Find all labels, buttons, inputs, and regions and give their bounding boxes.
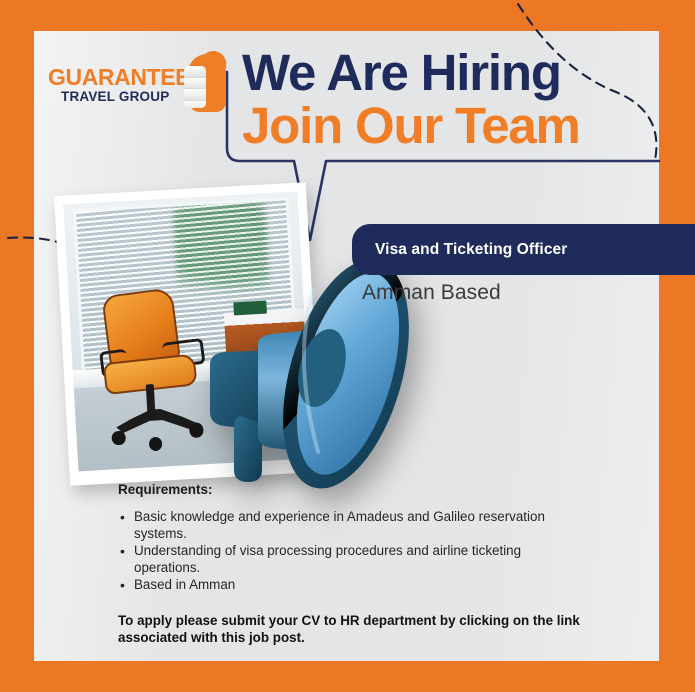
job-location: Amman Based [362,281,501,305]
requirements-heading: Requirements: [118,482,213,497]
logo-company-name: GUARANTEE [48,64,190,91]
list-item: Basic knowledge and experience in Amadeu… [118,509,588,542]
apply-instructions: To apply please submit your CV to HR dep… [118,612,588,646]
list-item: Based in Amman [118,577,588,594]
headline-line-2: Join Our Team [242,99,662,152]
requirements-list: Basic knowledge and experience in Amadeu… [118,509,588,595]
job-title-text: Visa and Ticketing Officer [375,241,567,259]
company-logo: GUARANTEE TRAVEL GROUP [48,62,228,114]
logo-subtitle: TRAVEL GROUP [61,89,169,104]
hiring-poster: GUARANTEE TRAVEL GROUP We Are Hiring Joi… [0,0,695,692]
thumbs-up-icon [172,54,228,116]
headline-line-1: We Are Hiring [242,47,662,99]
headline: We Are Hiring Join Our Team [242,47,662,152]
list-item: Understanding of visa processing procedu… [118,543,588,576]
job-title-banner: Visa and Ticketing Officer [352,224,695,275]
